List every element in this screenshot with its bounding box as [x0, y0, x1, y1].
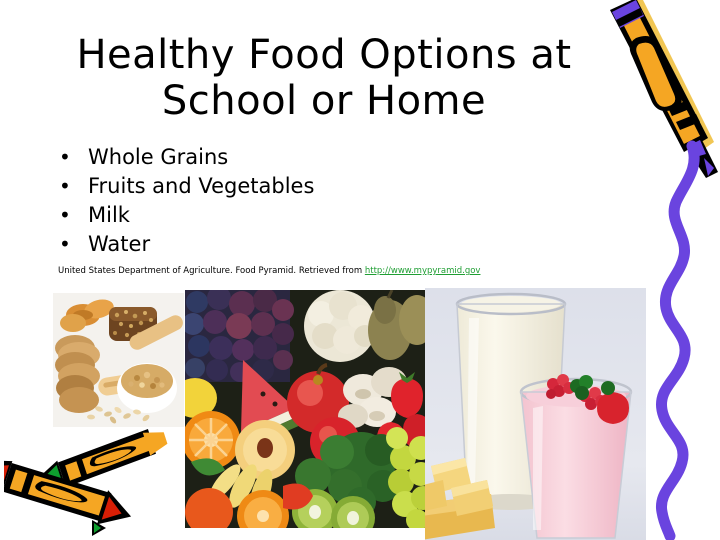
bullet-marker-icon: •: [56, 143, 88, 172]
list-item: • Milk: [56, 201, 536, 230]
crossed-crayons-icon: [4, 424, 170, 540]
bullet-marker-icon: •: [56, 230, 88, 259]
produce-photo-art: [185, 290, 426, 528]
squiggle-icon: [640, 140, 720, 540]
citation: United States Department of Agriculture.…: [58, 266, 480, 277]
list-item: • Water: [56, 230, 536, 259]
bullet-label: Water: [88, 230, 150, 259]
purple-squiggle-icon: [640, 140, 720, 540]
produce-photo: [185, 290, 426, 528]
bullet-list: • Whole Grains • Fruits and Vegetables •…: [56, 143, 536, 259]
grains-photo: [53, 293, 184, 427]
citation-text: United States Department of Agriculture.…: [58, 266, 365, 276]
dairy-photo: [425, 288, 646, 540]
bullet-label: Milk: [88, 201, 130, 230]
crayons-bottom-left-icon: [4, 424, 170, 540]
dairy-photo-art: [425, 288, 646, 540]
bullet-marker-icon: •: [56, 201, 88, 230]
list-item: • Fruits and Vegetables: [56, 172, 536, 201]
grains-photo-art: [53, 293, 184, 427]
page-title: Healthy Food Options at School or Home: [48, 32, 600, 124]
bullet-label: Fruits and Vegetables: [88, 172, 314, 201]
citation-link[interactable]: http://www.mypyramid.gov: [365, 266, 481, 276]
bullet-marker-icon: •: [56, 172, 88, 201]
bullet-label: Whole Grains: [88, 143, 228, 172]
slide-canvas: Healthy Food Options at School or Home •…: [0, 0, 720, 540]
list-item: • Whole Grains: [56, 143, 536, 172]
